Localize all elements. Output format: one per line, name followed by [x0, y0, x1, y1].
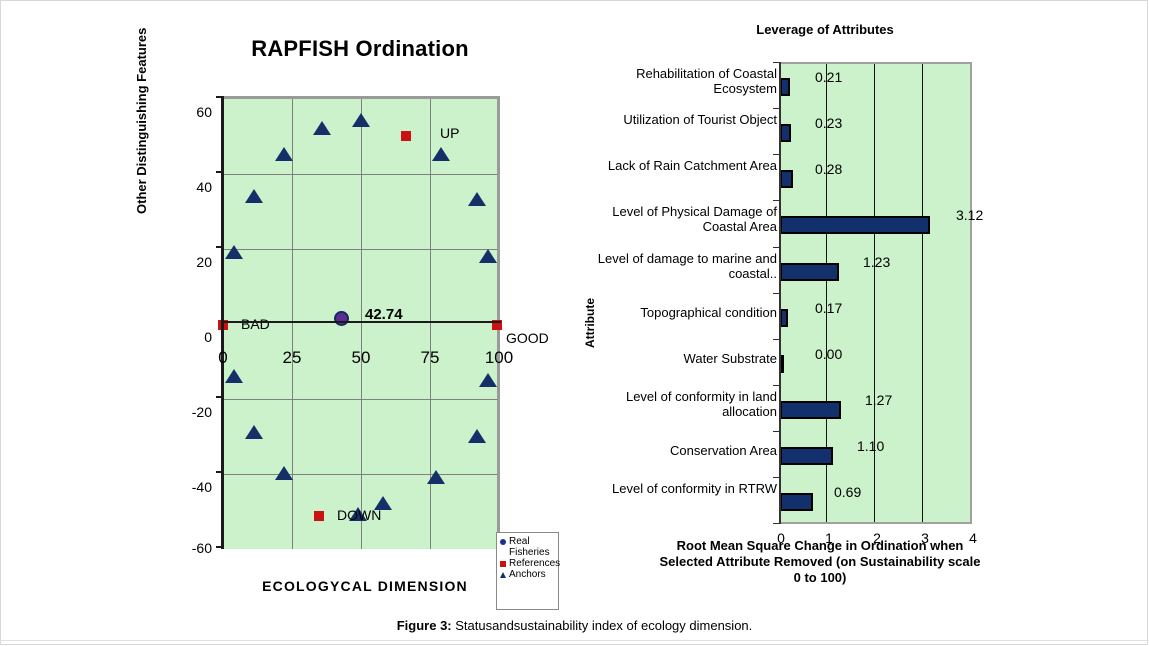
y-tickmark: [773, 200, 780, 201]
anchor-marker: [352, 113, 370, 127]
y-tick-neg20: -20: [172, 404, 212, 420]
bar-utilization-of-tourist-object: [780, 124, 791, 142]
y-tickmark: [773, 431, 780, 432]
gridline-x-3: [922, 64, 923, 522]
left-chart-legend: Real Fisheries References Anchors: [496, 532, 559, 610]
y-tickmark: [773, 523, 780, 524]
bar-level-of-conformity-in-rtrw: [780, 493, 813, 511]
anchor-marker: [468, 192, 486, 206]
category-label: Water Substrate: [582, 351, 777, 366]
good-label: GOOD: [506, 330, 549, 346]
y-tick-neg40: -40: [172, 479, 212, 495]
anchor-marker: [479, 249, 497, 263]
bar-lack-of-rain-catchment-area: [780, 170, 793, 188]
legend-label: Anchors: [509, 569, 546, 580]
leverage-of-attributes-chart: Leverage of Attributes Attribute: [575, 18, 1045, 618]
bar-value-label: 1.10: [857, 438, 884, 454]
y-tick-neg60: -60: [172, 540, 212, 556]
category-label: Level of damage to marine and coastal..: [582, 251, 777, 281]
square-marker-icon: [500, 561, 506, 567]
anchor-marker: [275, 466, 293, 480]
anchor-marker: [225, 245, 243, 259]
bar-value-label: 0.00: [815, 346, 842, 362]
bar-value-label: 3.12: [956, 207, 983, 223]
gridline-x-25: [292, 99, 293, 549]
category-label: Level of conformity in land allocation: [582, 389, 777, 419]
anchor-marker: [245, 425, 263, 439]
caption-divider: [0, 640, 1149, 641]
bar-value-label: 1.27: [865, 392, 892, 408]
category-label: Lack of Rain Catchment Area: [582, 158, 777, 173]
figure-caption-text: Statusandsustainability index of ecology…: [452, 618, 753, 633]
y-tickmark: [773, 247, 780, 248]
y-tick-60: 60: [172, 104, 212, 120]
circle-marker-icon: [500, 539, 506, 545]
y-tick-20: 20: [172, 254, 212, 270]
real-fishery-marker: [334, 311, 349, 326]
bar-value-label: 0.23: [815, 115, 842, 131]
right-plot-area: [780, 62, 972, 524]
bar-value-label: 0.17: [815, 300, 842, 316]
anchor-marker: [427, 470, 445, 484]
bar-rehabilitation-of-coastal-ecosystem: [780, 78, 790, 96]
y-tickmark: [773, 108, 780, 109]
left-chart-title: RAPFISH Ordination: [170, 36, 550, 62]
anchor-marker: [432, 147, 450, 161]
y-tickmark: [773, 293, 780, 294]
category-label: Rehabilitation of Coastal Ecosystem: [582, 66, 777, 96]
bad-label: BAD: [241, 316, 270, 332]
category-label: Topographical condition: [582, 305, 777, 320]
y-tickmark: [773, 339, 780, 340]
category-label: Level of Physical Damage of Coastal Area: [582, 204, 777, 234]
figure-root: RAPFISH Ordination Other Distinguishing …: [0, 0, 1149, 646]
bar-conservation-area: [780, 447, 833, 465]
anchor-marker: [275, 147, 293, 161]
bar-topographical-condition: [780, 309, 788, 327]
anchor-marker: [479, 373, 497, 387]
y-tick-40: 40: [172, 179, 212, 195]
up-label: UP: [440, 125, 459, 141]
gridline-y-40: [223, 174, 497, 175]
rapfish-ordination-chart: RAPFISH Ordination Other Distinguishing …: [150, 18, 570, 618]
anchor-marker: [245, 189, 263, 203]
legend-item-real-fisheries: Real Fisheries: [500, 536, 556, 558]
reference-marker: [314, 511, 324, 521]
bar-value-label: 0.21: [815, 69, 842, 85]
x-tick-50: 50: [337, 348, 385, 368]
bar-value-label: 0.28: [815, 161, 842, 177]
gridline-y-neg20: [223, 399, 497, 400]
anchor-marker: [225, 369, 243, 383]
category-label: Level of conformity in RTRW: [582, 481, 777, 496]
left-chart-x-axis-label: ECOLOGYCAL DIMENSION: [190, 578, 540, 594]
legend-label: Real Fisheries: [509, 536, 550, 558]
right-chart-caption: Root Mean Square Change in Ordination wh…: [655, 538, 985, 586]
bar-level-of-conformity-in-land-allocation: [780, 401, 841, 419]
y-tickmark: [773, 62, 780, 63]
x-tick-75: 75: [406, 348, 454, 368]
gridline-y-neg40: [223, 474, 497, 475]
legend-item-anchors: Anchors: [500, 569, 556, 580]
x-tick-100: 100: [475, 348, 523, 368]
y-tick-0: 0: [172, 329, 212, 345]
y-tickmark: [773, 154, 780, 155]
reference-marker: [401, 131, 411, 141]
category-label: Utilization of Tourist Object: [582, 112, 777, 127]
category-label: Conservation Area: [582, 443, 777, 458]
bar-level-of-damage-to-marine-and-coastal: [780, 263, 839, 281]
figure-caption: Figure 3: Statusandsustainability index …: [0, 618, 1149, 633]
y-tickmark: [773, 477, 780, 478]
anchor-marker: [313, 121, 331, 135]
x-tick-0: 0: [199, 348, 247, 368]
triangle-marker-icon: [500, 572, 506, 578]
left-chart-x-axis: [221, 321, 501, 323]
figure-caption-label: Figure 3:: [397, 618, 452, 633]
bar-level-of-physical-damage-of-coastal-area: [780, 216, 930, 234]
x-tick-25: 25: [268, 348, 316, 368]
legend-item-references: References: [500, 558, 556, 569]
y-tickmark: [773, 385, 780, 386]
right-chart-title: Leverage of Attributes: [675, 22, 975, 37]
down-label: DOWN: [337, 507, 381, 523]
bar-value-label: 1.23: [863, 254, 890, 270]
anchor-marker: [468, 429, 486, 443]
gridline-x-50: [361, 99, 362, 549]
legend-label: References: [509, 558, 560, 569]
left-chart-y-axis-label: Other Distinguishing Features: [134, 28, 149, 214]
gridline-y-20: [223, 249, 497, 250]
bar-value-label: 0.69: [834, 484, 861, 500]
